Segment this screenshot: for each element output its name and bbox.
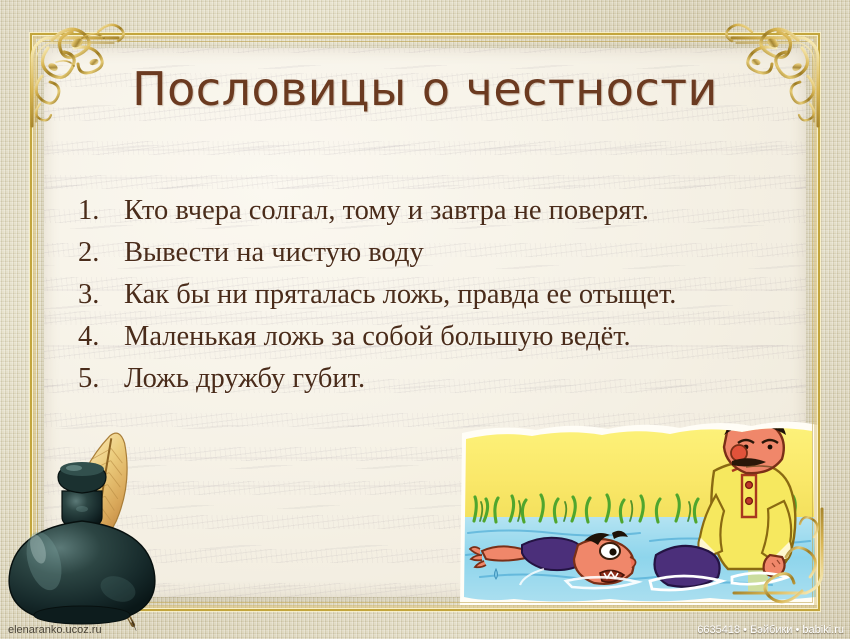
watermark-left: elenaranko.ucoz.ru [8,624,102,636]
list-item: Маленькая ложь за собой большую ведёт. [124,316,770,357]
page-title: Пословицы о честности [0,62,850,116]
list-item: Как бы ни пряталась ложь, правда ее отыщ… [124,274,770,315]
slide-content: Пословицы о честности Кто вчера солгал, … [0,0,850,639]
presentation-slide: Пословицы о честности Кто вчера солгал, … [0,0,850,639]
list-item: Вывести на чистую воду [124,232,770,273]
watermark-right: 6635418 • Бэйбики • babiki.ru [697,624,844,636]
list-item: Кто вчера солгал, тому и завтра не повер… [124,190,770,231]
proverb-list: Кто вчера солгал, тому и завтра не повер… [78,190,770,400]
list-item: Ложь дружбу губит. [124,358,770,399]
